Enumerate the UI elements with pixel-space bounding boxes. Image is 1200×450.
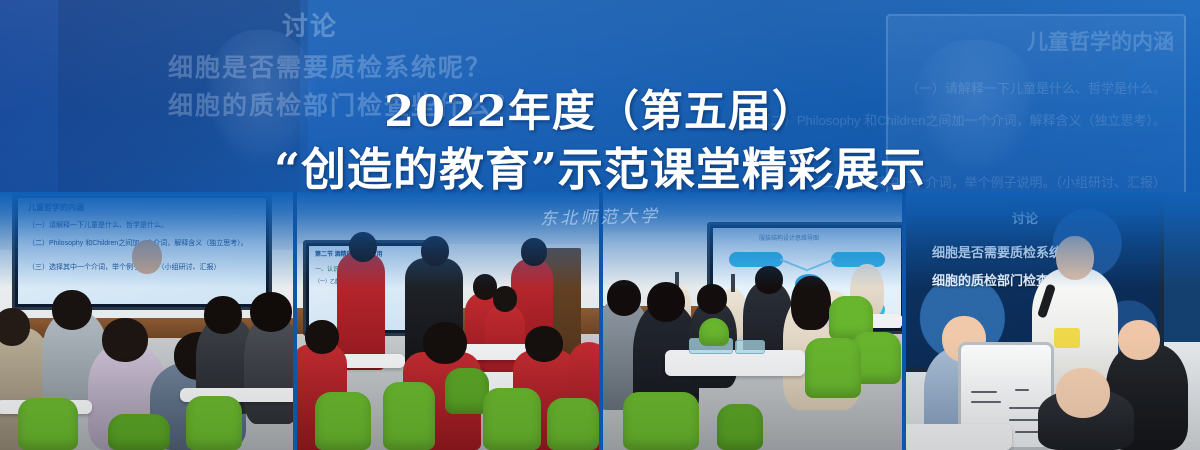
student-head: [493, 286, 517, 312]
student-head: [697, 284, 727, 314]
presenter-head: [1056, 236, 1094, 280]
student-head: [607, 280, 641, 316]
student-head: [349, 232, 377, 262]
student-head: [791, 276, 831, 330]
chair: [717, 404, 763, 450]
student-head: [305, 320, 339, 354]
photo-strip: 儿童哲学的内涵 （一）请解释一下儿童是什么、哲学是什么。 （二）Philosop…: [0, 192, 1200, 450]
mind-node: [729, 252, 783, 267]
chair: [483, 388, 541, 450]
photo-philosophy-class: 儿童哲学的内涵 （一）请解释一下儿童是什么、哲学是什么。 （二）Philosop…: [0, 192, 293, 450]
mind-link: [806, 258, 835, 271]
desk: [906, 424, 1012, 450]
chair: [108, 414, 170, 450]
photo-pe-uniform-class: 第二节 酒精的性质与应用 一、认识乙醇 （一）乙醇的物理性质: [297, 192, 599, 450]
slide-title: 儿童哲学的内涵: [28, 202, 84, 213]
student-head: [525, 326, 563, 362]
chair: [547, 398, 599, 450]
teacher-head: [421, 236, 449, 266]
photo-seam: [902, 192, 906, 450]
photo-design-class: 服装结构设计思维导图: [603, 192, 902, 450]
photo-seam: [293, 192, 297, 450]
supply-bin: [735, 340, 765, 354]
university-watermark: 东北师范大学: [540, 201, 661, 229]
dress-form-stand: [731, 274, 735, 292]
whiteboard-note-line: [971, 391, 997, 393]
photo-seam: [599, 192, 603, 450]
student-head: [647, 282, 685, 322]
slide-line-3: （三）选择其中一个介词，举个例子说明。（小组研讨、汇报）: [28, 262, 221, 272]
whiteboard-note-line: [1015, 389, 1029, 391]
slide-title: 服装结构设计思维导图: [759, 233, 819, 242]
student-head: [204, 296, 242, 334]
slide-heading: 讨论: [1012, 208, 1038, 227]
chair: [315, 392, 371, 450]
chair: [699, 318, 729, 346]
presenter-shirt-accent: [1054, 328, 1080, 348]
slide-line-1: （一）请解释一下儿童是什么、哲学是什么。: [28, 220, 168, 230]
whiteboard-note-line: [1015, 431, 1039, 433]
student-head: [755, 266, 783, 294]
student-head: [52, 290, 92, 330]
student-head: [521, 238, 547, 266]
chair: [18, 398, 78, 450]
student-head: [250, 292, 292, 332]
mind-node: [831, 252, 885, 267]
chair: [623, 392, 699, 450]
chair: [805, 338, 861, 398]
mind-link: [780, 258, 809, 271]
student-head: [1118, 320, 1160, 360]
event-banner: 讨论 细胞是否需要质检系统呢？ 细胞的质检部门检查些什么？ 儿童哲学的内涵 （一…: [0, 0, 1200, 450]
student-head: [1056, 368, 1110, 418]
worktable: [665, 350, 805, 376]
student-head: [102, 318, 148, 362]
student: [244, 316, 293, 424]
chair: [383, 382, 435, 450]
chair: [186, 396, 242, 450]
student-head: [423, 322, 467, 364]
whiteboard-note-line: [971, 401, 1001, 403]
photo-biology-class: 讨论 细胞是否需要质检系统呢？ 细胞的质检部门检查些什么？: [906, 192, 1200, 450]
teacher-head: [132, 240, 162, 274]
student-standing: [337, 252, 385, 370]
